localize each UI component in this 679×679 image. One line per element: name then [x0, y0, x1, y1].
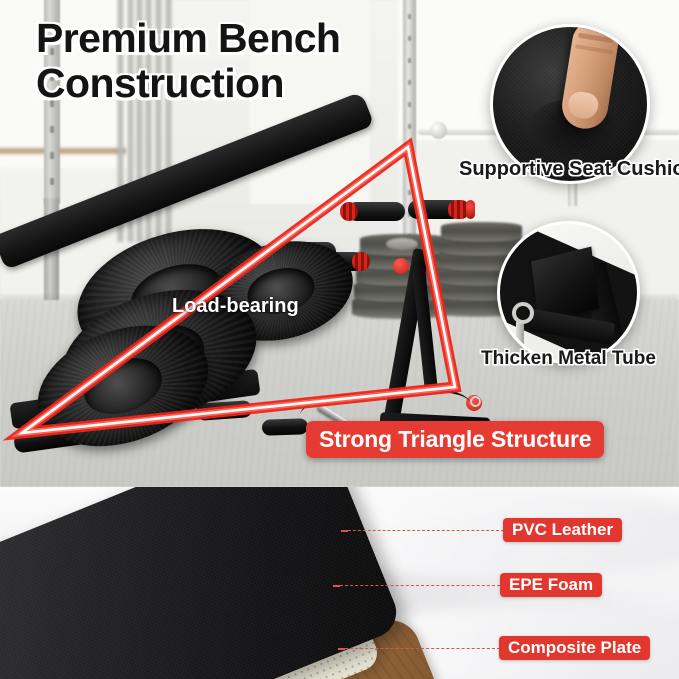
leader-tick	[341, 530, 348, 532]
load-bearing-label: Load-bearing	[172, 295, 299, 318]
leader-line	[340, 585, 500, 586]
roller-red-ring	[340, 202, 358, 221]
cushion-layers-scene: PVC Leather EPE Foam Composite Plate	[0, 487, 679, 679]
bench-foot-roller	[262, 418, 309, 436]
layer-badge-composite-plate: Composite Plate	[499, 636, 650, 660]
title-line-1: Premium Bench	[36, 16, 456, 61]
roller-red-ring	[352, 252, 370, 271]
metal-tube-callout-label: Thicken Metal Tube	[481, 348, 656, 370]
finger-knuckle-line	[578, 33, 614, 44]
wall-trim	[0, 148, 126, 154]
seat-cushion-callout-label: Supportive Seat Cushion	[459, 158, 679, 181]
pvc-leather-top-layer	[0, 487, 404, 679]
tube-clip-icon	[512, 302, 534, 324]
metal-tube-callout-circle	[497, 221, 640, 364]
finger-knuckle-line	[575, 44, 613, 54]
roller-end-cap	[466, 200, 475, 219]
layer-badge-pvc-leather: PVC Leather	[503, 518, 622, 542]
fingernail	[566, 90, 600, 120]
layer-badge-epe-foam: EPE Foam	[500, 573, 602, 597]
leader-line	[348, 530, 504, 531]
rack-bar-knob	[430, 122, 447, 139]
page-title: Premium Bench Construction	[36, 16, 456, 106]
leader-line	[345, 648, 500, 649]
gym-scene-photo: Premium Bench Construction Load-bearing …	[0, 0, 679, 487]
leader-tick	[333, 585, 340, 587]
leader-tick	[338, 648, 345, 650]
title-line-2: Construction	[36, 61, 456, 106]
product-feature-graphic: Premium Bench Construction Load-bearing …	[0, 0, 679, 679]
strong-triangle-banner: Strong Triangle Structure	[306, 421, 604, 458]
adjustment-knob	[393, 258, 409, 274]
